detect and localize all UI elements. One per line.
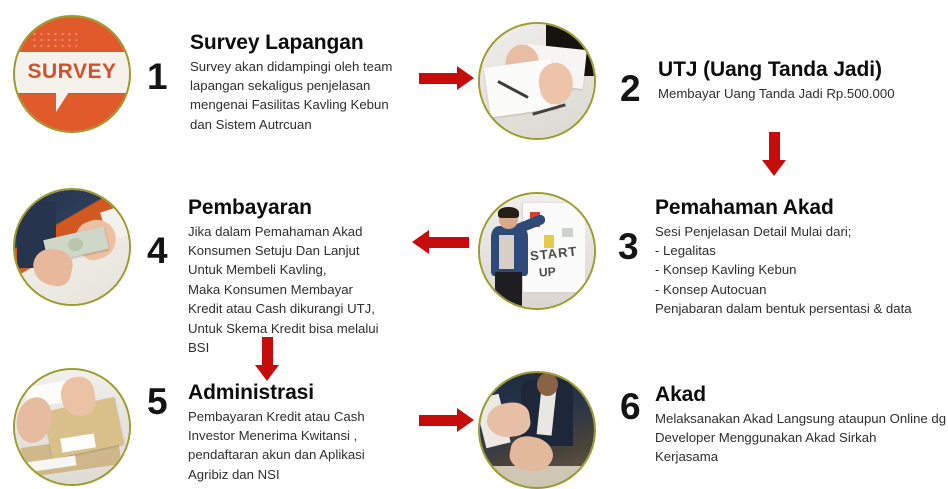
step-2-number: 2 xyxy=(620,70,641,107)
arrow-shaft xyxy=(769,132,780,162)
arrow-head xyxy=(255,365,279,381)
arrow-step5-to-step6 xyxy=(419,406,477,434)
step-6-title: Akad xyxy=(655,383,947,407)
step-1-title: Survey Lapangan xyxy=(190,31,422,55)
step-3-text-block: Pemahaman Akad Sesi Penjelasan Detail Mu… xyxy=(655,196,945,319)
arrow-step4-to-step5 xyxy=(253,337,281,383)
step-6-body: Melaksanakan Akad Langsung ataupun Onlin… xyxy=(655,409,947,467)
step-1-photo-circle: SURVEY xyxy=(13,15,131,133)
man-presenting-whiteboard-photo: STARTUP xyxy=(480,194,594,308)
arrow-shaft xyxy=(419,73,459,84)
step-5-title: Administrasi xyxy=(188,381,424,405)
step-2-body: Membayar Uang Tanda Jadi Rp.500.000 xyxy=(658,84,944,103)
step-2-photo-circle xyxy=(478,22,596,140)
step-3-title: Pemahaman Akad xyxy=(655,196,945,220)
step-2-title: UTJ (Uang Tanda Jadi) xyxy=(658,58,944,82)
hands-signing-documents-photo xyxy=(480,24,594,138)
infographic-flow: SURVEY 1 Survey Lapangan Survey akan did… xyxy=(0,0,948,486)
arrow-head xyxy=(762,160,786,176)
badge-word: SURVEY xyxy=(15,60,129,84)
arrow-shaft xyxy=(262,337,273,367)
step-6-number: 6 xyxy=(620,388,641,425)
step-4-text-block: Pembayaran Jika dalam Pemahaman Akad Kon… xyxy=(188,196,424,357)
step-5-number: 5 xyxy=(147,383,168,420)
step-4-photo-circle xyxy=(13,188,131,306)
hands-filing-documents-photo xyxy=(15,370,129,484)
step-6-text-block: Akad Melaksanakan Akad Langsung ataupun … xyxy=(655,383,947,467)
arrow-step1-to-step2 xyxy=(419,64,477,92)
step-4-number: 4 xyxy=(147,232,168,269)
survey-badge-icon: SURVEY xyxy=(15,17,129,131)
arrow-shaft xyxy=(419,415,459,426)
arrow-step2-to-step3 xyxy=(760,132,788,178)
step-3-photo-circle: STARTUP xyxy=(478,192,596,310)
step-6-photo-circle xyxy=(478,371,596,489)
handshake-meeting-photo xyxy=(480,373,594,487)
step-4-title: Pembayaran xyxy=(188,196,424,220)
money-exchange-photo xyxy=(15,190,129,304)
arrow-shaft xyxy=(429,237,469,248)
step-2-text-block: UTJ (Uang Tanda Jadi) Membayar Uang Tand… xyxy=(658,58,944,103)
arrow-head xyxy=(457,408,474,432)
badge-dots xyxy=(31,31,77,47)
step-3-number: 3 xyxy=(618,228,639,265)
badge-tail xyxy=(56,92,69,112)
step-5-photo-circle xyxy=(13,368,131,486)
step-5-text-block: Administrasi Pembayaran Kredit atau Cash… xyxy=(188,381,424,484)
step-5-body: Pembayaran Kredit atau Cash Investor Men… xyxy=(188,407,424,485)
step-4-body: Jika dalam Pemahaman Akad Konsumen Setuj… xyxy=(188,222,424,358)
arrow-head xyxy=(457,66,474,90)
step-1-text-block: Survey Lapangan Survey akan didampingi o… xyxy=(190,31,422,134)
step-1-number: 1 xyxy=(147,58,168,95)
step-3-body: Sesi Penjelasan Detail Mulai dari; - Leg… xyxy=(655,222,945,319)
step-1-body: Survey akan didampingi oleh team lapanga… xyxy=(190,57,422,135)
